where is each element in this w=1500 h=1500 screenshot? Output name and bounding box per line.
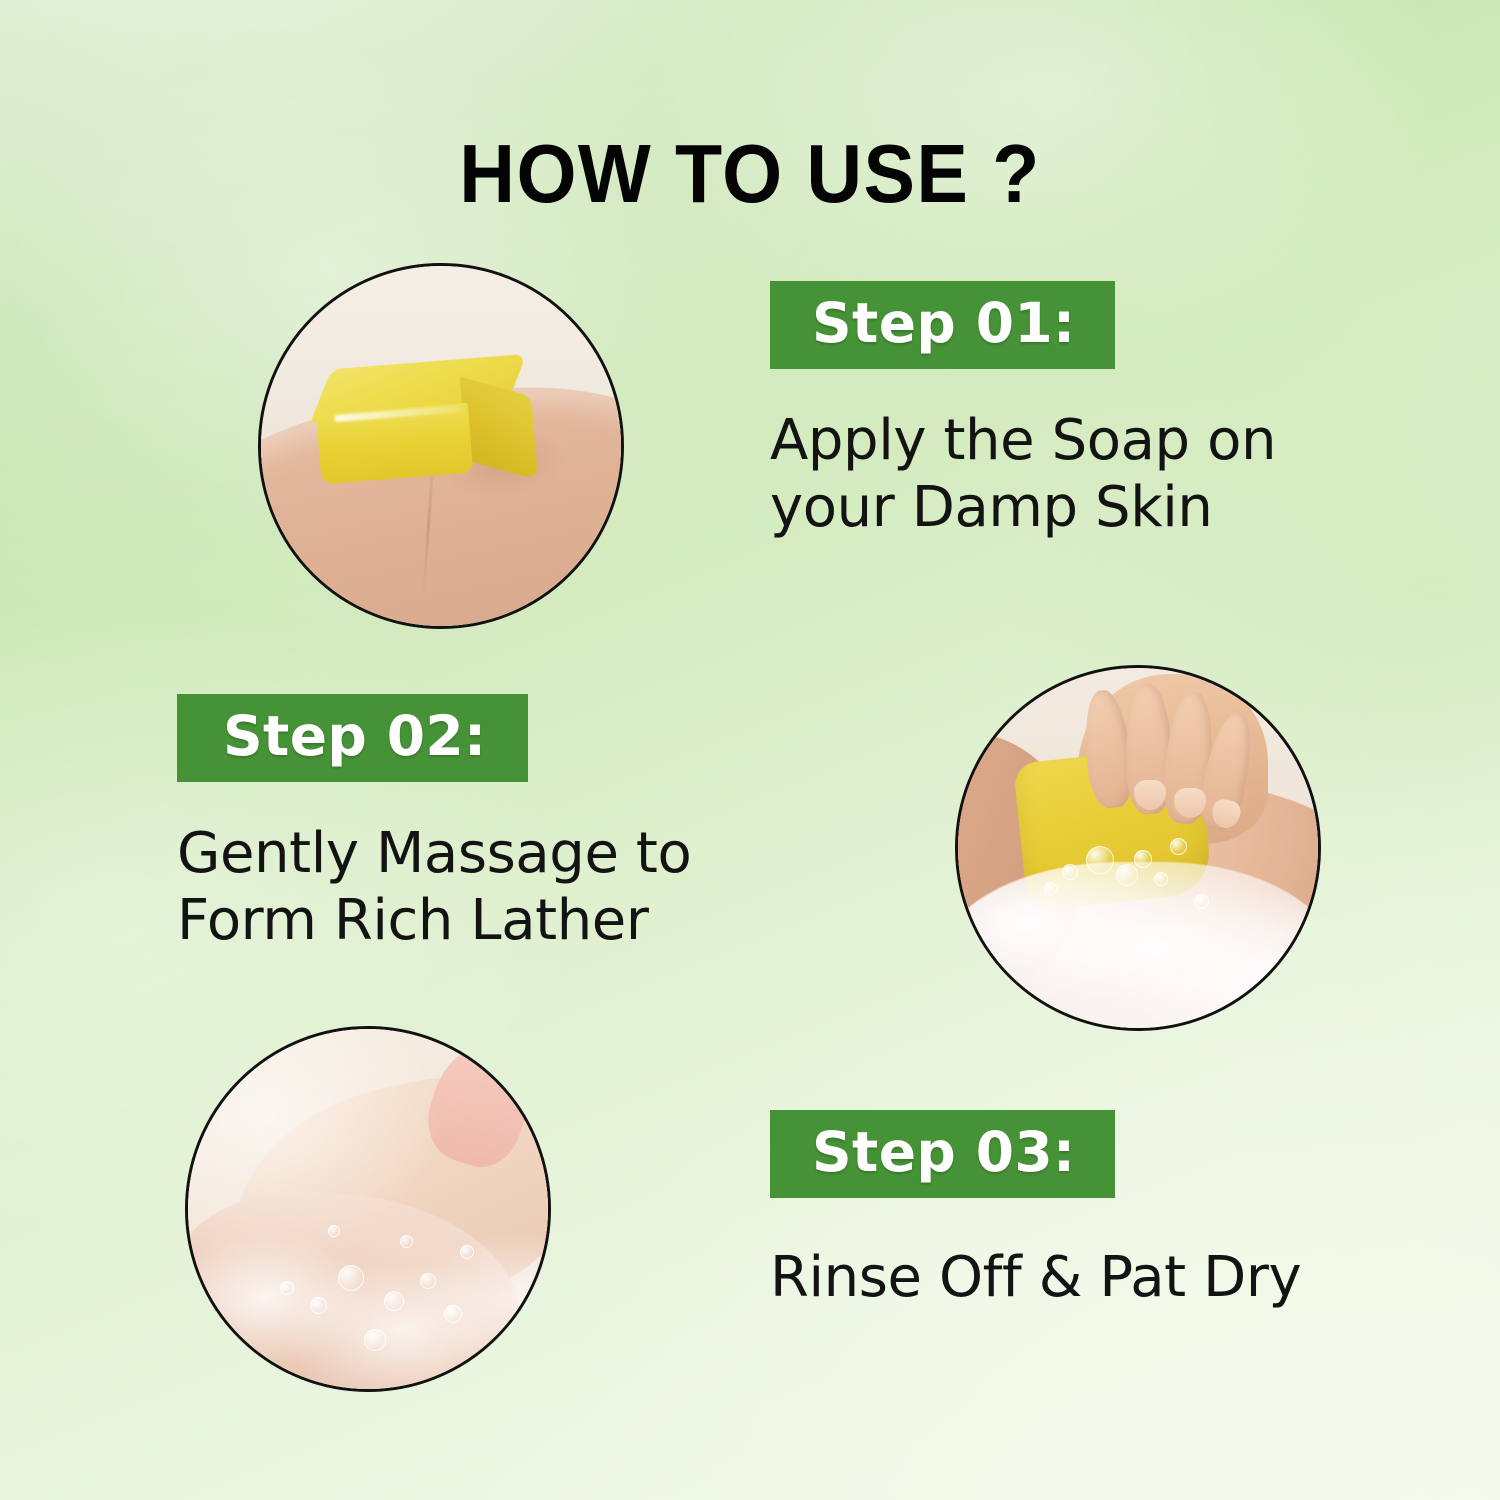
bubble [1116,864,1138,886]
step-1-photo-soap-on-arm [258,263,624,629]
bubble [1134,850,1152,868]
step-2-block: Step 02: Gently Massage to Form Rich Lat… [177,694,691,954]
photo-3-soft-light [188,1029,548,1389]
bubble [1194,894,1209,909]
photo-1-soap-bar [313,354,540,489]
step-1-block: Step 01: Apply the Soap on your Damp Ski… [770,281,1276,541]
bubble [1170,838,1187,855]
step-1-description: Apply the Soap on your Damp Skin [770,407,1276,541]
bubble [1154,872,1168,886]
how-to-use-poster: HOW TO USE ? Step 01: Apply the Soap on … [0,0,1500,1500]
step-3-description: Rinse Off & Pat Dry [770,1244,1301,1311]
step-3-badge: Step 03: [770,1110,1115,1198]
bubble [1062,864,1078,880]
page-title: HOW TO USE ? [53,126,1448,222]
photo-2-bubbles [958,668,1318,1028]
step-1-badge: Step 01: [770,281,1115,369]
step-3-photo-rinse [185,1026,551,1392]
step-3-block: Step 03: Rinse Off & Pat Dry [770,1110,1301,1311]
bubble [1086,846,1114,874]
step-2-badge: Step 02: [177,694,528,782]
bubble [1044,882,1057,895]
step-2-description: Gently Massage to Form Rich Lather [177,820,691,954]
step-2-photo-lather [955,665,1321,1031]
